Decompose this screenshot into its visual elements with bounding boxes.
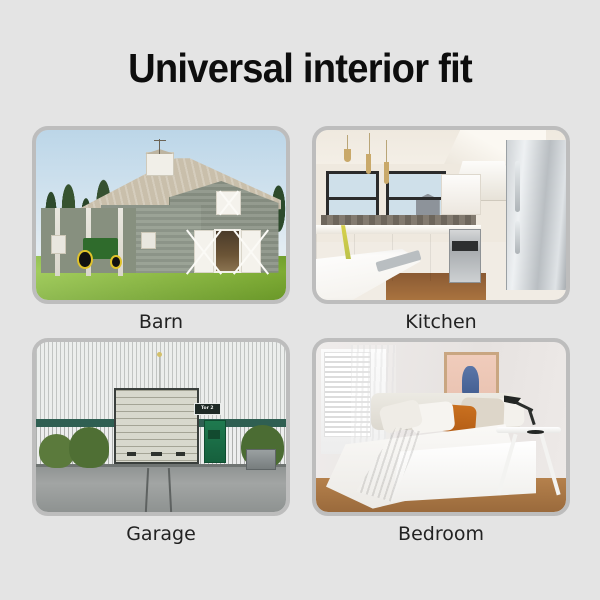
window-mullion	[389, 197, 443, 200]
tractor-wheel-front	[110, 255, 122, 269]
pendant-light-1	[344, 149, 351, 163]
kitchen-window-right	[386, 171, 446, 219]
garage-door-vent-1	[127, 452, 136, 456]
pendant-light-2	[366, 154, 371, 174]
product-feature-panel: Universal interior fit	[0, 0, 600, 600]
kitchen-refrigerator	[506, 140, 566, 290]
photo-garage: Tor 2	[36, 342, 286, 512]
barn-cupola	[146, 152, 174, 176]
kitchen-window-left	[326, 171, 379, 219]
photo-barn	[36, 130, 286, 300]
barn-tractor	[74, 235, 124, 269]
barn-window-center	[141, 232, 156, 249]
barn-sliding-door-left	[194, 230, 214, 273]
garage-door-vent-3	[176, 452, 185, 456]
grid-cell-barn: Barn	[32, 126, 290, 334]
kitchen-upper-cabinet	[441, 174, 481, 215]
grid-cell-kitchen: Kitchen	[312, 126, 570, 334]
bedroom-side-table	[496, 427, 561, 498]
barn-weathervane-icon	[159, 139, 160, 154]
barn-hayloft-door	[216, 191, 241, 215]
garage-roll-up-door-frame	[114, 388, 199, 465]
tile-garage[interactable]: Tor 2	[32, 338, 290, 516]
scene-grid: Barn	[32, 126, 570, 546]
garage-gate-sign: Tor 2	[194, 403, 222, 415]
grid-cell-bedroom: Bedroom	[312, 338, 570, 546]
window-sky	[329, 174, 376, 216]
tile-kitchen[interactable]	[312, 126, 570, 304]
barn-window-left	[51, 235, 66, 254]
garage-personnel-door	[204, 420, 227, 463]
fridge-handle-upper	[515, 161, 520, 212]
garage-waste-bin	[246, 449, 276, 469]
tile-label-kitchen: Kitchen	[312, 310, 570, 334]
kitchen-range	[449, 229, 482, 283]
side-table-leg-right	[539, 433, 560, 494]
barn-sliding-door-right	[241, 230, 261, 273]
garage-flagpole	[159, 356, 160, 390]
pendant-light-3	[384, 162, 389, 184]
page-title: Universal interior fit	[21, 48, 579, 89]
grid-cell-garage: Tor 2 Garage	[32, 338, 290, 546]
window-mullion	[329, 197, 376, 200]
garage-roll-up-door	[116, 390, 197, 463]
garage-door-vent-2	[151, 452, 162, 456]
tile-label-barn: Barn	[32, 310, 290, 334]
side-table-leg-left	[497, 433, 518, 494]
lamp-base	[527, 430, 544, 434]
tile-barn[interactable]	[32, 126, 290, 304]
garage-shrub-2	[69, 427, 109, 468]
tractor-wheel-rear	[77, 250, 93, 270]
tile-label-bedroom: Bedroom	[312, 522, 570, 546]
photo-bedroom	[316, 342, 566, 512]
photo-kitchen	[316, 130, 566, 300]
bedroom-desk-lamp	[501, 393, 551, 434]
tile-label-garage: Garage	[32, 522, 290, 546]
fridge-handle-lower	[515, 221, 520, 254]
tile-bedroom[interactable]	[312, 338, 570, 516]
garage-asphalt	[36, 464, 286, 512]
